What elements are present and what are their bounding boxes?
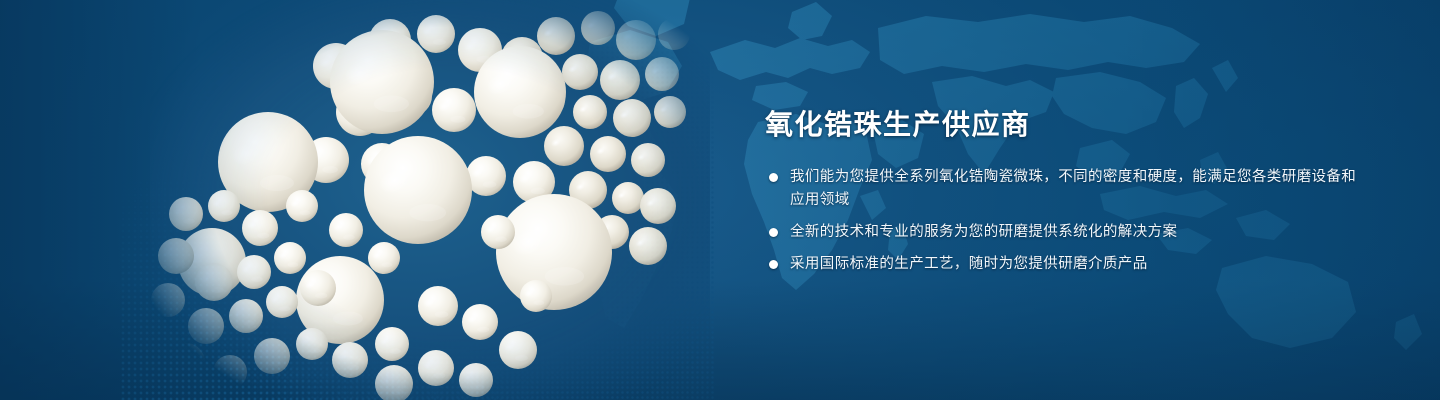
banner-copy: 氧化锆珠生产供应商 我们能为您提供全系列氧化锆陶瓷微珠，不同的密度和硬度，能满足…: [765, 108, 1365, 276]
page-title: 氧化锆珠生产供应商: [765, 108, 1365, 142]
feature-list: 我们能为您提供全系列氧化锆陶瓷微珠，不同的密度和硬度，能满足您各类研磨设备和应用…: [765, 166, 1365, 276]
bullet-dot-icon: [769, 260, 778, 269]
list-item-label: 全新的技术和专业的服务为您的研磨提供系统化的解决方案: [790, 224, 1177, 240]
list-item-label: 我们能为您提供全系列氧化锆陶瓷微珠，不同的密度和硬度，能满足您各类研磨设备和应用…: [790, 169, 1356, 208]
promo-banner: 氧化锆珠生产供应商 我们能为您提供全系列氧化锆陶瓷微珠，不同的密度和硬度，能满足…: [0, 0, 1440, 400]
list-item: 我们能为您提供全系列氧化锆陶瓷微珠，不同的密度和硬度，能满足您各类研磨设备和应用…: [765, 166, 1365, 212]
list-item: 全新的技术和专业的服务为您的研磨提供系统化的解决方案: [765, 221, 1365, 244]
zirconia-beads-photo: [150, 0, 710, 400]
list-item: 采用国际标准的生产工艺，随时为您提供研磨介质产品: [765, 253, 1365, 276]
bullet-dot-icon: [769, 173, 778, 182]
list-item-label: 采用国际标准的生产工艺，随时为您提供研磨介质产品: [790, 256, 1148, 272]
bullet-dot-icon: [769, 228, 778, 237]
